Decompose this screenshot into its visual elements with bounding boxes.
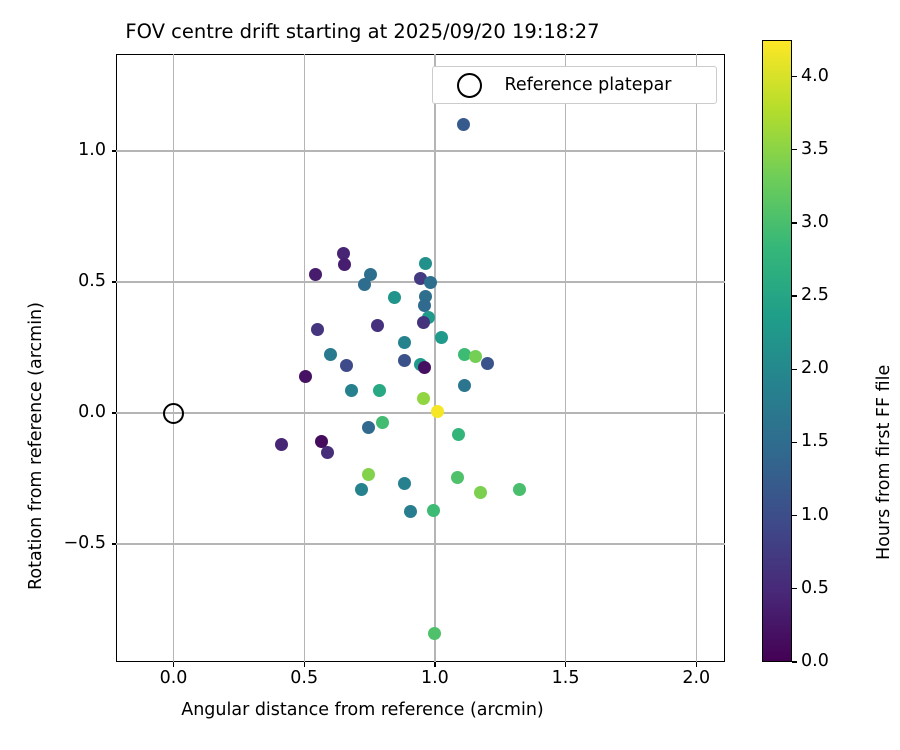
scatter-point <box>388 291 401 304</box>
scatter-point <box>321 446 334 459</box>
legend-entry-label: Reference platepar <box>482 75 704 95</box>
y-axis-tick <box>112 281 117 282</box>
scatter-point <box>299 370 312 383</box>
x-axis-tick-label: 1.5 <box>531 668 601 688</box>
y-axis-tick-label: −0.5 <box>36 533 106 553</box>
scatter-point <box>417 392 430 405</box>
y-axis-tick-label: 0.5 <box>36 271 106 291</box>
scatter-point <box>513 483 526 496</box>
colorbar-tick <box>792 295 797 296</box>
page-title: FOV centre drift starting at 2025/09/20 … <box>0 20 725 43</box>
scatter-point <box>417 316 430 329</box>
x-axis-tick <box>565 662 566 667</box>
y-axis-label: Rotation from reference (arcmin) <box>26 302 46 590</box>
scatter-point <box>451 471 464 484</box>
colorbar <box>762 40 792 662</box>
scatter-point <box>311 323 324 336</box>
scatter-point <box>418 361 431 374</box>
scatter-point <box>435 331 448 344</box>
x-axis-label: Angular distance from reference (arcmin) <box>0 700 725 720</box>
gridline-vertical <box>565 54 566 662</box>
scatter-point <box>376 416 389 429</box>
x-axis-tick <box>173 662 174 667</box>
colorbar-tick <box>792 369 797 370</box>
colorbar-tick <box>792 588 797 589</box>
scatter-point <box>362 468 375 481</box>
colorbar-tick <box>792 149 797 150</box>
x-axis-tick-label: 1.0 <box>400 668 470 688</box>
gridline-horizontal <box>116 412 725 413</box>
colorbar-tick-label: 1.5 <box>801 431 829 451</box>
colorbar-tick-label: 4.0 <box>801 66 829 86</box>
scatter-point <box>345 384 358 397</box>
colorbar-tick-label: 1.0 <box>801 505 829 525</box>
y-axis-tick-label: 1.0 <box>36 140 106 160</box>
colorbar-tick-label: 2.5 <box>801 285 829 305</box>
y-axis-tick <box>112 412 117 413</box>
gridline-vertical <box>173 54 174 662</box>
x-axis-tick <box>696 662 697 667</box>
colorbar-tick <box>792 661 797 662</box>
open-circle-icon <box>457 73 482 98</box>
colorbar-tick-label: 3.0 <box>801 212 829 232</box>
scatter-point <box>469 350 482 363</box>
scatter-point <box>340 359 353 372</box>
colorbar-tick <box>792 222 797 223</box>
scatter-point <box>362 421 375 434</box>
x-axis-tick <box>434 662 435 667</box>
legend: Reference platepar <box>432 66 717 104</box>
gridline-horizontal <box>116 150 725 151</box>
gridline-vertical <box>696 54 697 662</box>
scatter-point <box>428 627 441 640</box>
scatter-point <box>427 504 440 517</box>
colorbar-tick <box>792 442 797 443</box>
colorbar-label: Hours from first FF file <box>874 365 894 560</box>
gridline-horizontal <box>116 543 725 544</box>
reference-platepar-marker <box>163 403 184 424</box>
scatter-point <box>358 278 371 291</box>
colorbar-tick-label: 0.5 <box>801 578 829 598</box>
scatter-point <box>481 357 494 370</box>
scatter-point <box>398 336 411 349</box>
figure-canvas: FOV centre drift starting at 2025/09/20 … <box>0 0 900 750</box>
x-axis-tick <box>304 662 305 667</box>
colorbar-tick-label: 2.0 <box>801 358 829 378</box>
y-axis-tick <box>112 150 117 151</box>
scatter-point <box>309 268 322 281</box>
x-axis-tick-label: 0.0 <box>139 668 209 688</box>
colorbar-tick-label: 0.0 <box>801 651 829 671</box>
scatter-point <box>424 276 437 289</box>
colorbar-gradient <box>763 41 791 661</box>
scatter-point <box>452 428 465 441</box>
y-axis-tick <box>112 543 117 544</box>
gridline-vertical <box>304 54 305 662</box>
x-axis-tick-label: 0.5 <box>269 668 339 688</box>
x-axis-tick-label: 2.0 <box>661 668 731 688</box>
scatter-point <box>324 348 337 361</box>
gridline-vertical <box>434 54 435 662</box>
colorbar-tick-label: 3.5 <box>801 139 829 159</box>
colorbar-tick <box>792 515 797 516</box>
scatter-point <box>371 319 384 332</box>
scatter-point <box>355 483 368 496</box>
scatter-point <box>404 505 417 518</box>
y-axis-tick-label: 0.0 <box>36 402 106 422</box>
colorbar-tick <box>792 76 797 77</box>
